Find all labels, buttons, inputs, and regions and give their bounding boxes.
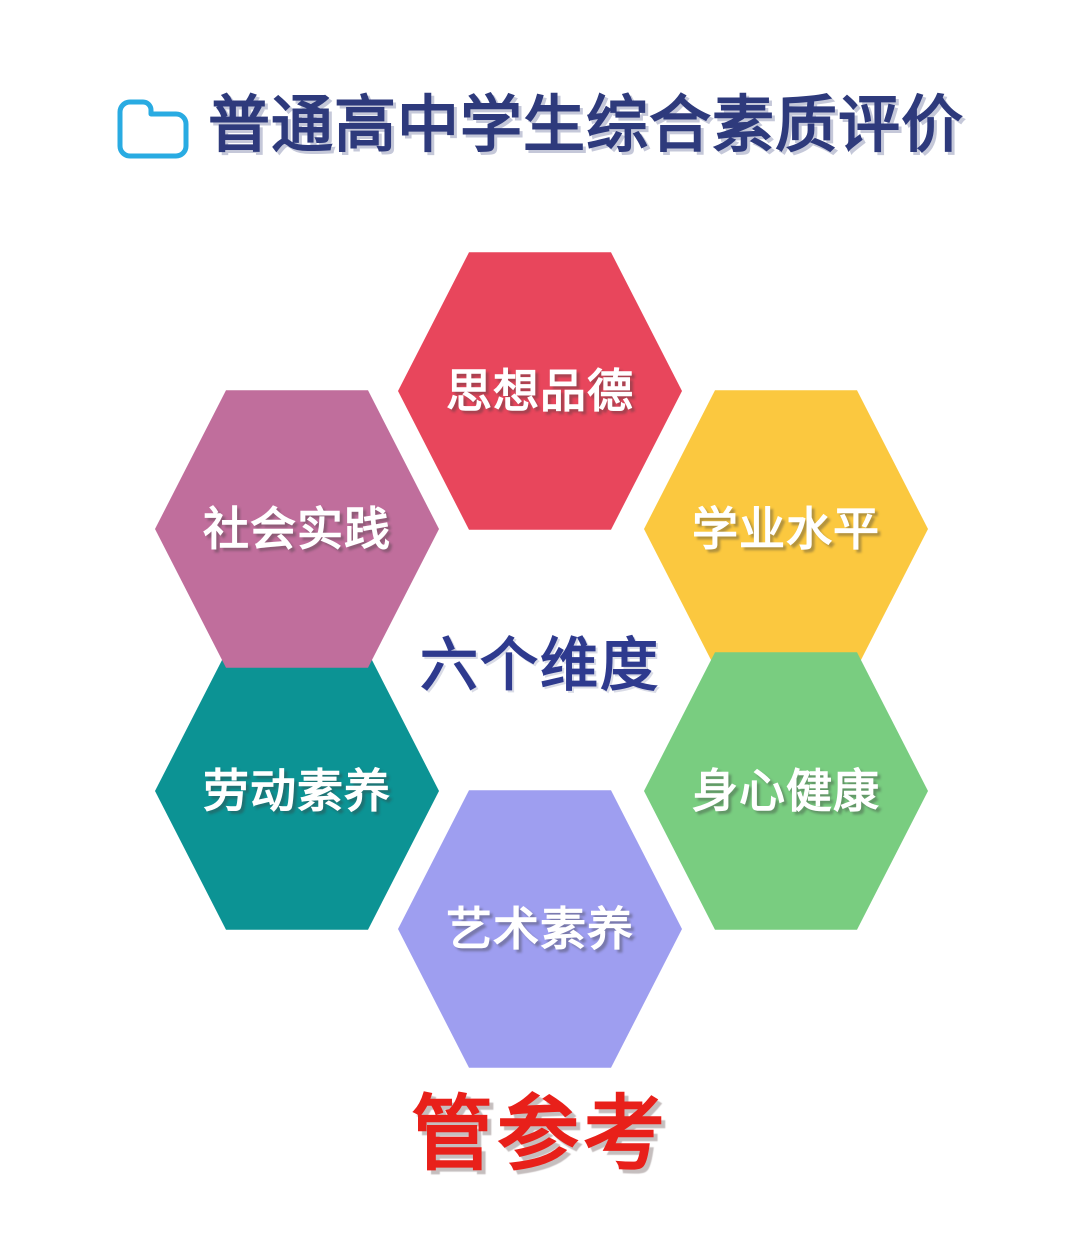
page-title: 普通高中学生综合素质评价 bbox=[208, 95, 964, 157]
hex-label: 思想品德 bbox=[446, 368, 634, 414]
hex-labor-literacy[interactable]: 劳动素养 bbox=[155, 648, 439, 934]
hex-label: 身心健康 bbox=[692, 768, 880, 814]
hex-label: 社会实践 bbox=[203, 506, 391, 552]
six-dimensions-diagram: 思想品德 学业水平 身心健康 艺术素养 劳动素养 社会实践 六个维度 bbox=[155, 248, 925, 1048]
header: 普通高中学生综合素质评价 bbox=[0, 76, 1080, 176]
diagram-center: 六个维度 bbox=[398, 560, 682, 772]
hex-label: 艺术素养 bbox=[446, 906, 634, 952]
hex-social-practice[interactable]: 社会实践 bbox=[155, 386, 439, 672]
hex-physical-mental-health[interactable]: 身心健康 bbox=[644, 648, 928, 934]
infographic-page: 普通高中学生综合素质评价 思想品德 学业水平 身心健康 艺术素养 劳动素养 社会… bbox=[0, 0, 1080, 1238]
hex-art-literacy[interactable]: 艺术素养 bbox=[398, 786, 682, 1072]
footer: 管参考 bbox=[0, 1080, 1080, 1190]
hex-label: 劳动素养 bbox=[203, 768, 391, 814]
footer-label: 管参考 bbox=[411, 1094, 669, 1176]
folder-icon bbox=[116, 98, 190, 160]
hex-academic-level[interactable]: 学业水平 bbox=[644, 386, 928, 672]
hex-thought-character[interactable]: 思想品德 bbox=[398, 248, 682, 534]
hex-label: 学业水平 bbox=[692, 506, 880, 552]
center-label: 六个维度 bbox=[420, 637, 660, 695]
